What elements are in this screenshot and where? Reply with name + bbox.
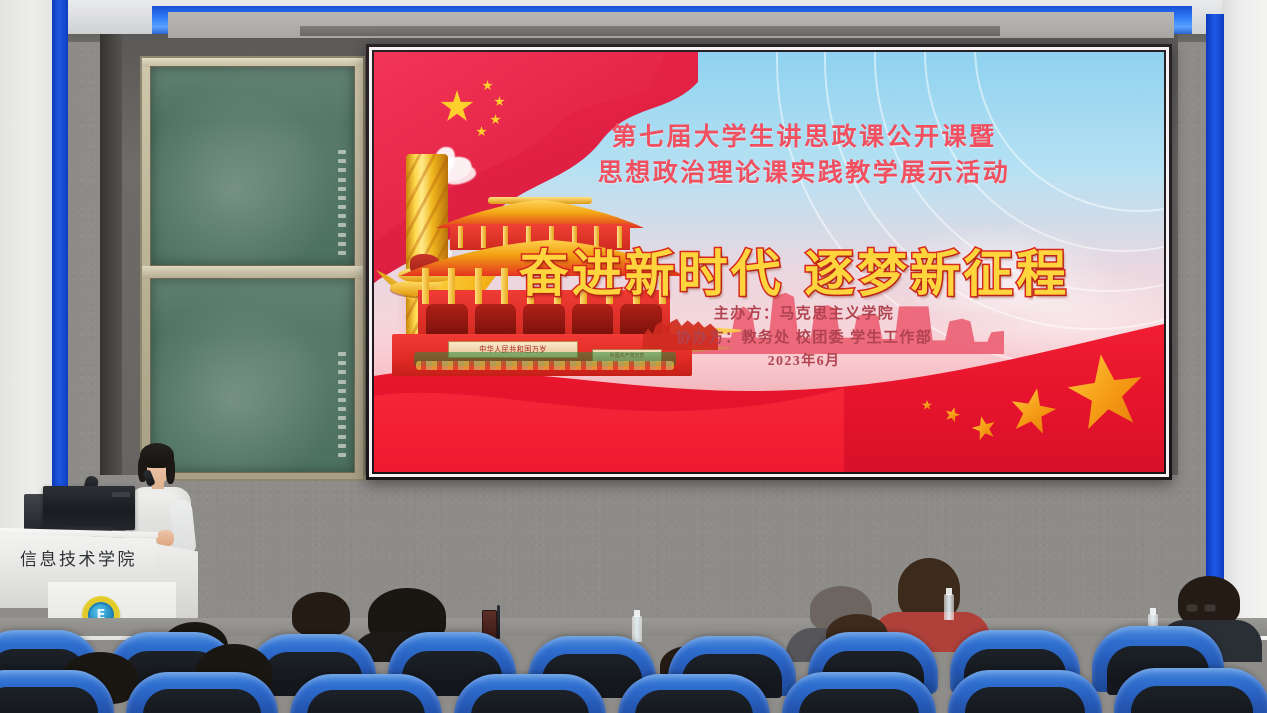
slide-credits: 主办方：马克思主义学院 协办方：教务处 校团委 学生工作部 2023年6月: [544, 302, 1064, 373]
podium-institution-label: 信息技术学院: [20, 545, 152, 570]
audience-seating: [0, 600, 1267, 713]
audience-head-back-5: [1178, 576, 1240, 626]
seat-row1-5[interactable]: [618, 674, 770, 713]
ceiling-air-slot: [300, 26, 1000, 36]
chalkboard-upper-pane: [150, 66, 355, 266]
slide-credit-coorganizer: 协办方：教务处 校团委 学生工作部: [544, 326, 1064, 350]
ledge-water-bottle-2: [944, 594, 954, 620]
front-board-panel-left-edge: [100, 30, 122, 475]
seat-row1-2[interactable]: [126, 672, 278, 713]
seat-row1-4[interactable]: [454, 674, 606, 713]
chalkboard-upper-clip-strip: [338, 150, 346, 255]
lecture-hall-photo: 中华人民共和国万岁 中国共产党万岁 第七届大学生讲思政课公开课暨 思想政治理论课…: [0, 0, 1267, 713]
slide-subtitle-line-1: 第七届大学生讲思政课公开课暨: [524, 120, 1084, 156]
speaker-hair-right: [166, 456, 175, 484]
chalkboard-lower-pane: [150, 278, 355, 473]
slide-main-title: 奋进新时代 逐梦新征程: [474, 234, 1114, 306]
led-screen-display: 中华人民共和国万岁 中国共产党万岁 第七届大学生讲思政课公开课暨 思想政治理论课…: [374, 52, 1164, 472]
slide-subtitle-line-2: 思想政治理论课实践教学展示活动: [524, 156, 1084, 192]
slide-credit-date: 2023年6月: [544, 351, 1064, 374]
audience-head-back-1: [292, 592, 350, 636]
ledge-water-bottle-1: [632, 616, 642, 642]
right-blue-accent-strip: [1206, 14, 1224, 640]
right-white-wall: [1222, 0, 1267, 640]
slide-credit-organizer: 主办方：马克思主义学院: [544, 302, 1064, 326]
chalkboard-lower-clip-strip: [338, 352, 346, 457]
seat-row1-3[interactable]: [290, 674, 442, 713]
audience-glasses-icon: [1186, 604, 1216, 612]
seat-row1-8[interactable]: [1114, 668, 1267, 713]
slide-text-block: 第七届大学生讲思政课公开课暨 思想政治理论课实践教学展示活动 奋进新时代 逐梦新…: [374, 52, 1164, 472]
seat-row1-6[interactable]: [782, 672, 936, 713]
slide-subtitle: 第七届大学生讲思政课公开课暨 思想政治理论课实践教学展示活动: [524, 120, 1084, 191]
seat-row1-7[interactable]: [948, 670, 1102, 713]
